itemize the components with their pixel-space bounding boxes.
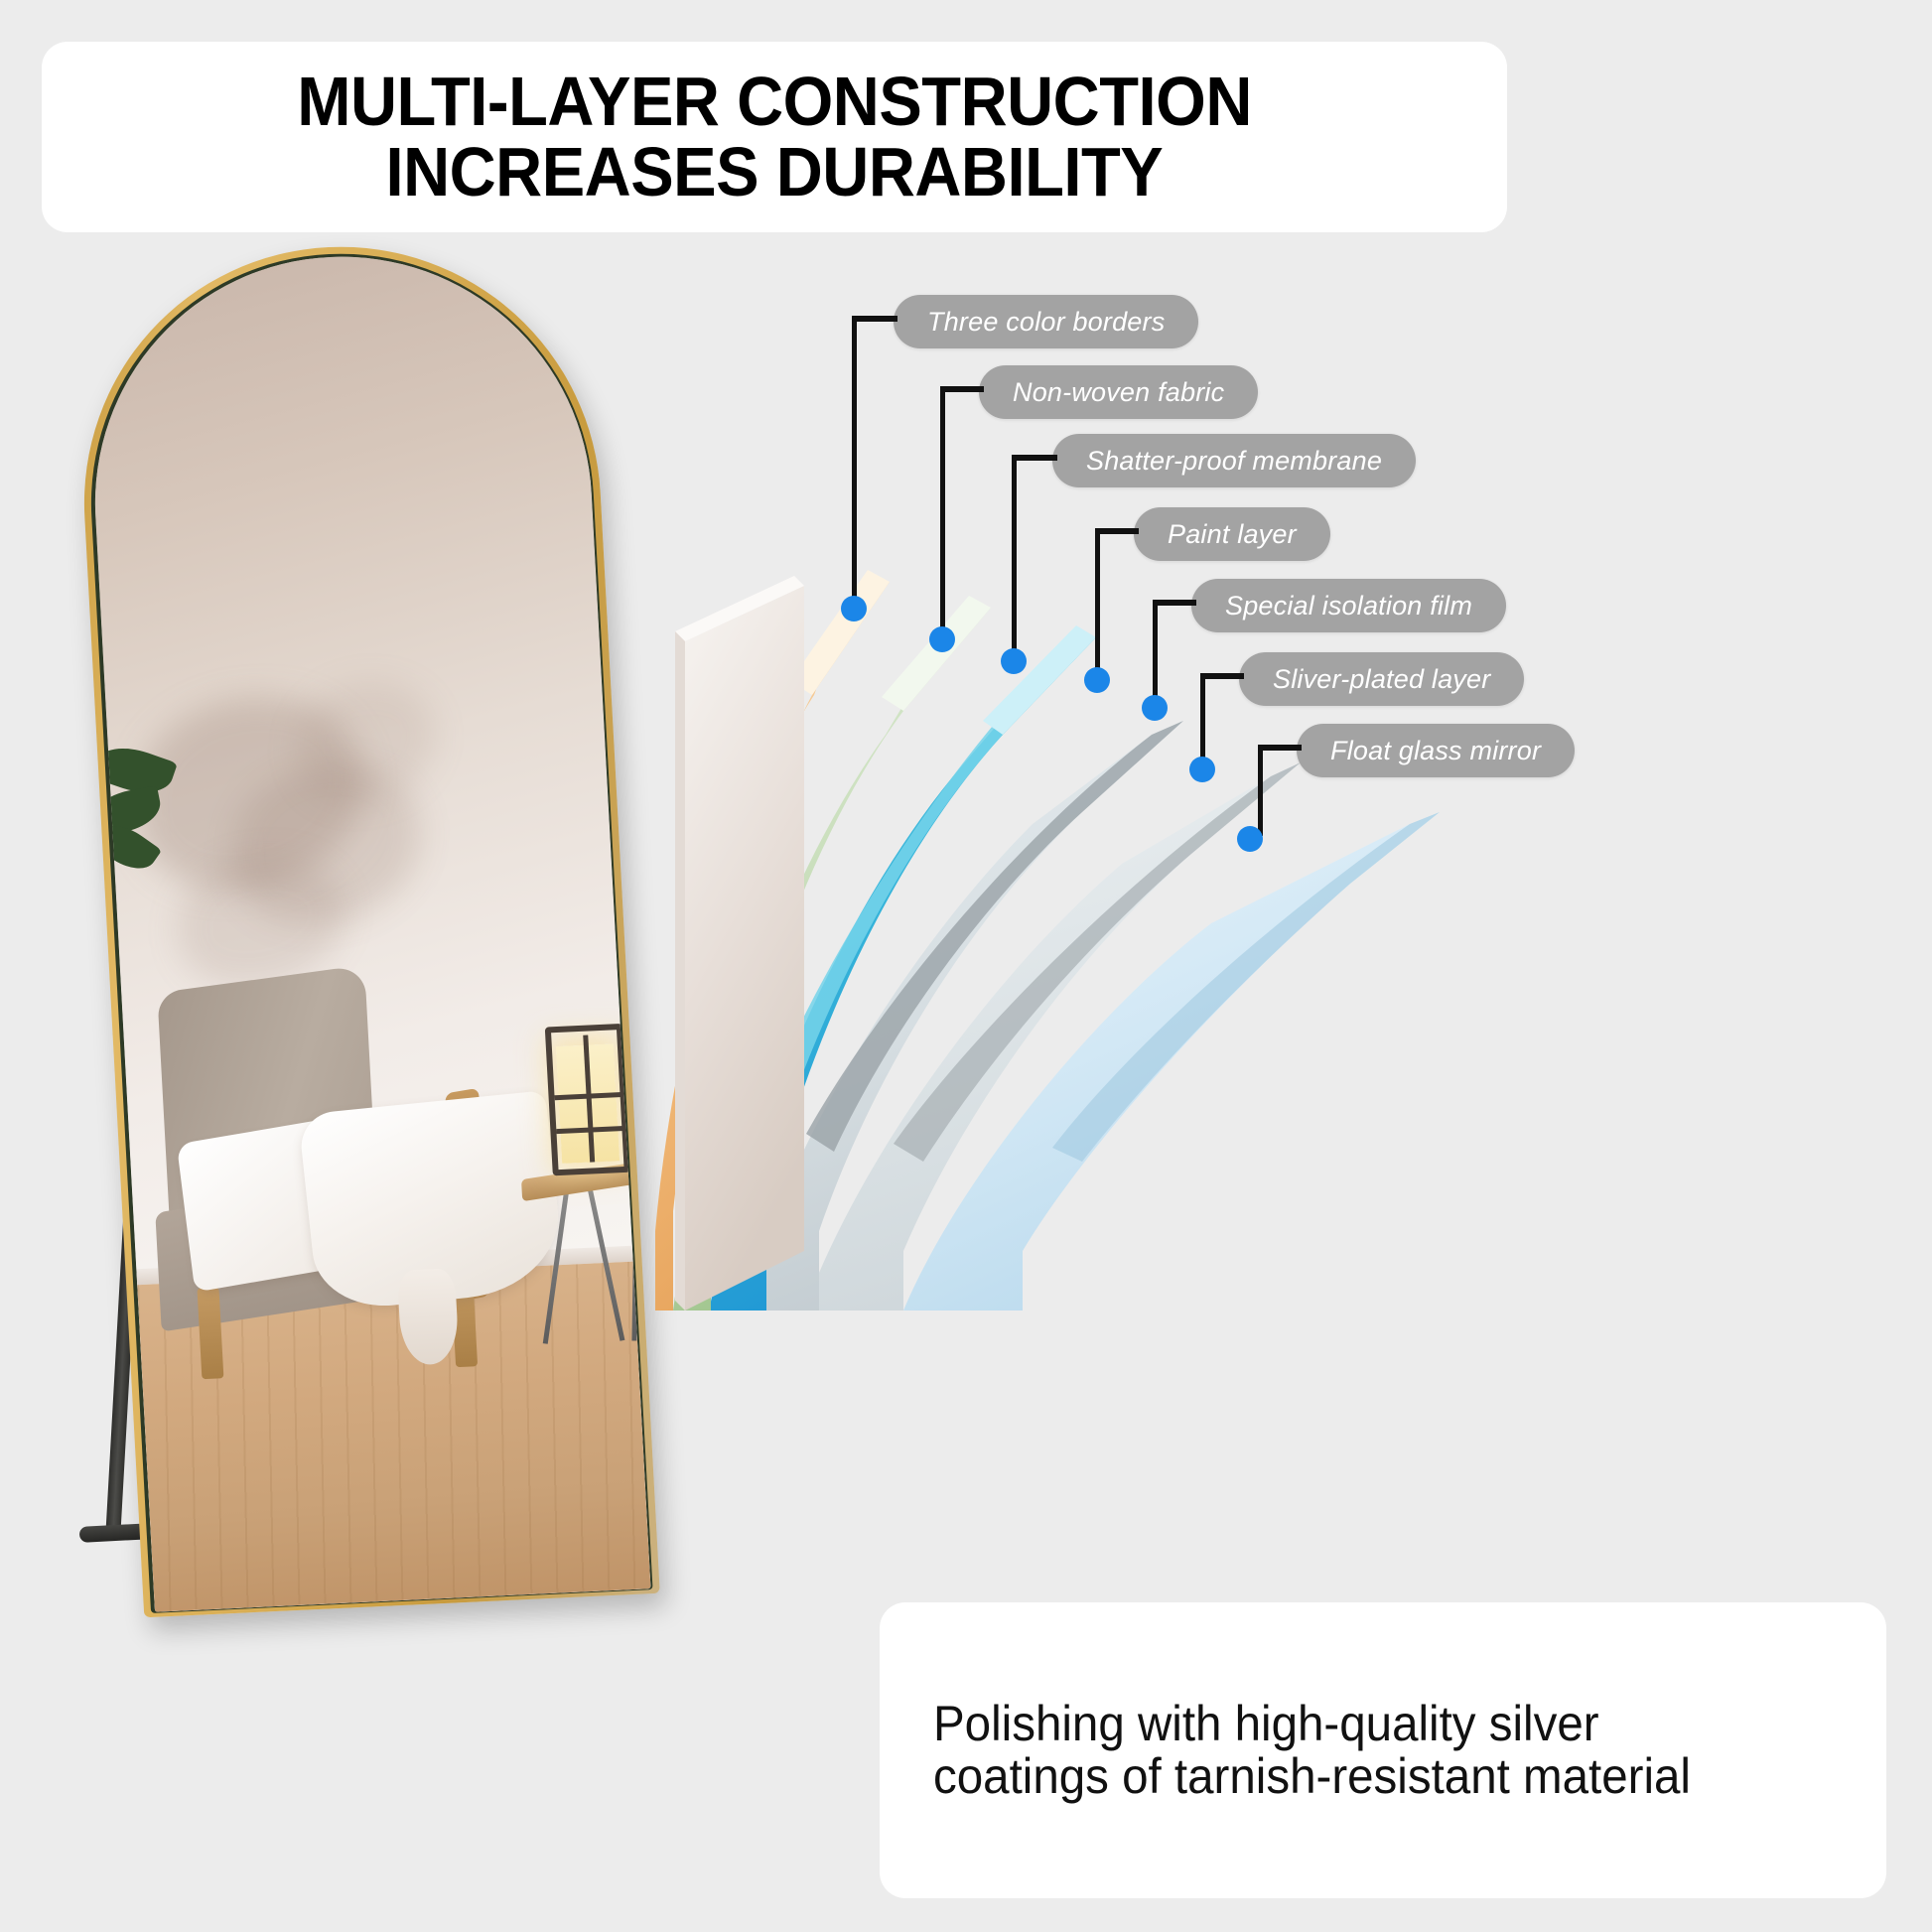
leader-elbow-paint-layer (1095, 528, 1139, 534)
title-line-2: INCREASES DURABILITY (386, 137, 1164, 207)
leader-elbow-non-woven-fabric (940, 386, 984, 392)
callout-pill-three-color-borders[interactable]: Three color borders (894, 295, 1198, 348)
title-card: MULTI-LAYER CONSTRUCTION INCREASES DURAB… (42, 42, 1507, 232)
product-photo-mirror (60, 238, 695, 1628)
mirror-glass-edge (78, 242, 653, 1613)
caption-line-1: Polishing with high-quality silver (933, 1698, 1599, 1750)
caption-line-2: coatings of tarnish-resistant material (933, 1750, 1691, 1803)
reflected-table-leg (631, 1182, 639, 1341)
layer-stack-diagram (655, 556, 1549, 1311)
infographic-page: MULTI-LAYER CONSTRUCTION INCREASES DURAB… (0, 0, 1932, 1932)
leader-elbow-shatter-proof-membrane (1012, 455, 1057, 461)
callout-pill-non-woven-fabric[interactable]: Non-woven fabric (979, 365, 1258, 419)
callout-pill-shatter-proof-membrane[interactable]: Shatter-proof membrane (1052, 434, 1416, 487)
callout-pill-paint-layer[interactable]: Paint layer (1134, 507, 1330, 561)
leader-elbow-three-color-borders (852, 316, 897, 322)
mirror-glass-surface (82, 245, 651, 1612)
caption-card: Polishing with high-quality silver coati… (880, 1602, 1886, 1898)
title-line-1: MULTI-LAYER CONSTRUCTION (297, 67, 1252, 137)
layer-three-color-borders (675, 576, 804, 1311)
mirror-gold-frame (70, 235, 660, 1617)
